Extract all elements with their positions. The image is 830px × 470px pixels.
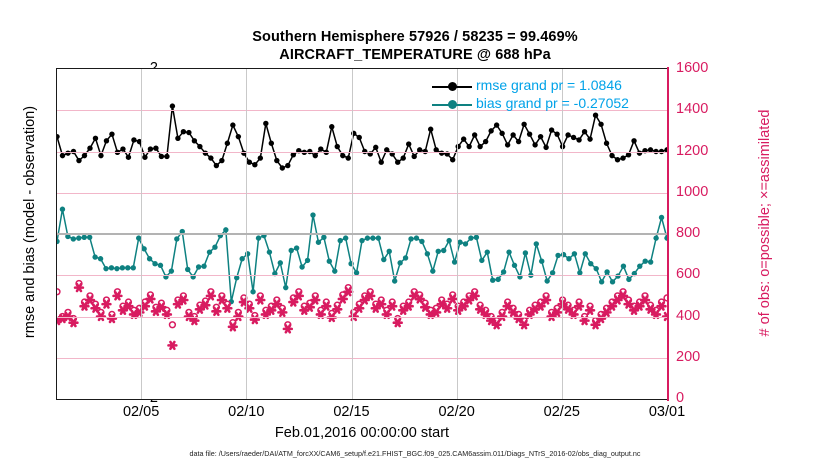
assimilated-obs-marker	[553, 309, 561, 316]
assimilated-obs-marker	[449, 296, 457, 303]
data-point	[340, 153, 345, 158]
x-tick-label: 02/05	[101, 404, 181, 420]
data-point	[392, 278, 397, 283]
data-point	[82, 235, 87, 240]
right-tick-label: 1200	[676, 143, 708, 159]
x-tick-label: 02/25	[522, 404, 602, 420]
data-point	[565, 132, 570, 137]
chart-title-line1: Southern Hemisphere 57926 / 58235 = 99.4…	[0, 29, 830, 45]
data-point	[120, 265, 125, 270]
data-point	[60, 207, 65, 212]
data-point	[387, 249, 392, 254]
assimilated-obs-marker	[256, 297, 264, 304]
data-point	[594, 266, 599, 271]
data-point	[621, 263, 626, 268]
data-point	[566, 256, 571, 261]
zero-reference-line	[57, 233, 667, 235]
data-point	[653, 235, 658, 240]
data-point	[441, 248, 446, 253]
data-point	[412, 154, 417, 159]
data-point	[57, 239, 60, 244]
data-point	[397, 260, 402, 265]
data-point	[572, 251, 577, 256]
data-point	[615, 157, 620, 162]
data-point	[488, 128, 493, 133]
data-point	[230, 122, 235, 127]
assimilated-obs-marker	[158, 304, 166, 311]
assimilated-obs-marker	[394, 319, 402, 326]
assimilated-obs-marker	[75, 284, 83, 291]
assimilated-obs-marker	[388, 303, 396, 310]
assimilated-obs-marker	[339, 296, 347, 303]
data-point	[76, 158, 81, 163]
right-tick-label: 1600	[676, 60, 708, 76]
data-point	[430, 268, 435, 273]
data-point	[294, 245, 299, 250]
assimilated-obs-marker	[333, 306, 341, 313]
data-point	[98, 256, 103, 261]
assimilated-obs-marker	[311, 297, 319, 304]
data-point	[256, 235, 261, 240]
data-point	[153, 146, 158, 151]
data-point	[299, 264, 304, 269]
data-point	[395, 160, 400, 165]
data-point	[401, 155, 406, 160]
data-point	[523, 250, 528, 255]
assimilated-obs-marker	[493, 321, 501, 328]
right-axis-spine	[667, 67, 669, 401]
assimilated-obs-marker	[278, 309, 286, 316]
data-point	[370, 235, 375, 240]
assimilated-obs-marker	[229, 323, 237, 330]
data-point	[501, 269, 506, 274]
data-point	[147, 256, 152, 261]
data-point	[373, 145, 378, 150]
assimilated-obs-marker	[619, 293, 627, 300]
data-point	[544, 278, 549, 283]
x-tick-label: 03/01	[627, 404, 707, 420]
data-point	[610, 279, 615, 284]
assimilated-obs-marker	[190, 317, 198, 324]
assimilated-obs-marker	[641, 297, 649, 304]
right-axis-label: # of obs: o=possible; ×=assimilated	[757, 58, 773, 388]
right-tick-label: 1000	[676, 184, 708, 200]
data-point	[425, 251, 430, 256]
data-point	[604, 141, 609, 146]
data-point	[60, 153, 65, 158]
data-point	[57, 134, 60, 139]
data-point	[285, 163, 290, 168]
legend-item-bias[interactable]: bias grand pr = -0.27052	[432, 96, 664, 114]
data-point	[223, 227, 228, 232]
data-point	[131, 265, 136, 270]
possible-obs-marker	[170, 322, 176, 328]
right-tick-label: 400	[676, 308, 700, 324]
data-point	[457, 240, 462, 245]
data-point	[582, 129, 587, 134]
assimilated-obs-marker	[416, 296, 424, 303]
x-axis-label: Feb.01,2016 00:00:00 start	[56, 425, 668, 441]
data-point	[521, 122, 526, 127]
data-point	[357, 135, 362, 140]
data-point	[93, 136, 98, 141]
assimilated-obs-marker	[377, 301, 385, 308]
data-point	[109, 131, 114, 136]
data-point	[643, 259, 648, 264]
data-point	[510, 132, 515, 137]
assimilated-obs-marker	[114, 293, 122, 300]
data-point	[346, 155, 351, 160]
data-point	[338, 238, 343, 243]
data-point	[196, 264, 201, 269]
data-point	[414, 235, 419, 240]
data-point	[159, 154, 164, 159]
data-point	[532, 142, 537, 147]
hgridline	[57, 317, 667, 318]
data-point	[247, 160, 252, 165]
data-point	[185, 267, 190, 272]
data-point	[109, 265, 114, 270]
data-point	[291, 152, 296, 157]
data-point	[169, 268, 174, 273]
chart-root: Southern Hemisphere 57926 / 58235 = 99.4…	[0, 0, 830, 470]
data-point	[506, 249, 511, 254]
data-point	[329, 124, 334, 129]
data-point	[335, 144, 340, 149]
data-point	[461, 136, 466, 141]
data-point	[103, 266, 108, 271]
data-point	[477, 144, 482, 149]
x-tick-label: 02/20	[417, 404, 497, 420]
data-point	[114, 266, 119, 271]
data-point	[92, 254, 97, 259]
data-point	[588, 261, 593, 266]
data-point	[516, 139, 521, 144]
assimilated-obs-marker	[103, 301, 111, 308]
left-axis-label: rmse and bias (model - observation)	[22, 57, 38, 387]
hgridline	[57, 358, 667, 359]
data-point	[219, 158, 224, 163]
data-point	[283, 285, 288, 290]
data-point	[539, 259, 544, 264]
data-point	[466, 144, 471, 149]
legend-marker-bias	[448, 100, 457, 109]
data-point	[71, 236, 76, 241]
data-point	[428, 127, 433, 132]
data-point	[141, 246, 146, 251]
assimilated-obs-marker	[355, 305, 363, 312]
data-point	[609, 153, 614, 158]
data-point	[186, 130, 191, 135]
data-point	[313, 153, 318, 158]
assimilated-obs-marker	[180, 297, 188, 304]
assimilated-obs-marker	[284, 326, 292, 333]
data-point	[225, 141, 230, 146]
assimilated-obs-marker	[223, 305, 231, 312]
assimilated-obs-marker	[520, 321, 528, 328]
data-point	[327, 259, 332, 264]
data-point	[648, 259, 653, 264]
data-point	[201, 263, 206, 268]
data-point	[379, 160, 384, 165]
assimilated-obs-marker	[86, 297, 94, 304]
data-point	[197, 144, 202, 149]
assimilated-obs-marker	[542, 297, 550, 304]
hgridline	[57, 152, 667, 153]
data-point	[207, 249, 212, 254]
assimilated-obs-marker	[421, 304, 429, 311]
assimilated-obs-marker	[405, 303, 413, 310]
data-point	[576, 137, 581, 142]
data-point	[626, 152, 631, 157]
right-tick-label: 200	[676, 349, 700, 365]
data-point	[131, 137, 136, 142]
data-point	[258, 155, 263, 160]
data-point	[494, 122, 499, 127]
data-point	[359, 238, 364, 243]
x-tick-label: 02/15	[311, 404, 391, 420]
data-point	[274, 158, 279, 163]
data-point	[637, 263, 642, 268]
data-point	[192, 138, 197, 143]
data-point	[76, 235, 81, 240]
data-point	[598, 122, 603, 127]
data-point	[472, 132, 477, 137]
assimilated-obs-marker	[575, 303, 583, 310]
assimilated-obs-marker	[432, 309, 440, 316]
legend-item-rmse[interactable]: rmse grand pr = 1.0846	[432, 78, 664, 96]
data-point	[126, 155, 131, 160]
data-point	[142, 155, 147, 160]
assimilated-obs-marker	[207, 293, 215, 300]
data-point	[239, 256, 244, 261]
data-point	[332, 268, 337, 273]
plot-area	[56, 68, 668, 400]
data-point	[252, 162, 257, 167]
data-point	[175, 136, 180, 141]
data-point	[659, 215, 664, 220]
data-point	[554, 131, 559, 136]
assimilated-obs-marker	[141, 303, 149, 310]
data-point	[505, 142, 510, 147]
data-point	[490, 278, 495, 283]
possible-obs-marker	[57, 289, 60, 295]
data-point	[468, 235, 473, 240]
data-point	[212, 245, 217, 250]
x-tick-label: 02/10	[206, 404, 286, 420]
data-point	[450, 157, 455, 162]
data-point	[512, 263, 517, 268]
data-point	[474, 235, 479, 240]
assimilated-obs-marker	[169, 342, 177, 349]
data-point	[406, 141, 411, 146]
data-point	[408, 236, 413, 241]
data-point	[495, 277, 500, 282]
data-point	[485, 249, 490, 254]
data-point	[419, 239, 424, 244]
assimilated-obs-marker	[201, 302, 209, 309]
data-point	[483, 139, 488, 144]
assimilated-obs-marker	[212, 308, 220, 315]
data-point	[365, 235, 370, 240]
data-point	[499, 131, 504, 136]
data-point	[174, 236, 179, 241]
data-point	[181, 129, 186, 134]
data-point	[571, 135, 576, 140]
data-point	[87, 146, 92, 151]
assimilated-obs-marker	[125, 303, 133, 310]
data-point	[534, 241, 539, 246]
data-point	[98, 153, 103, 158]
data-point	[620, 155, 625, 160]
assimilated-obs-marker	[586, 307, 594, 314]
legend-marker-rmse	[448, 82, 457, 91]
data-point	[236, 134, 241, 139]
data-point	[543, 145, 548, 150]
data-point	[214, 163, 219, 168]
data-point	[555, 253, 560, 258]
assimilated-obs-marker	[218, 297, 226, 304]
data-point	[403, 255, 408, 260]
legend-label-rmse: rmse grand pr = 1.0846	[476, 77, 622, 93]
assimilated-obs-marker	[306, 304, 314, 311]
assimilated-obs-marker	[658, 303, 666, 310]
data-point	[104, 138, 109, 143]
right-tick-label: 800	[676, 225, 700, 241]
data-point	[538, 134, 543, 139]
data-point	[479, 258, 484, 263]
right-tick-label: 600	[676, 266, 700, 282]
hgridline	[57, 275, 667, 276]
data-point	[599, 279, 604, 284]
data-point	[158, 263, 163, 268]
data-point	[289, 248, 294, 253]
data-point	[631, 138, 636, 143]
data-point	[263, 121, 268, 126]
data-point	[152, 261, 157, 266]
assimilated-obs-marker	[443, 305, 451, 312]
assimilated-obs-marker	[471, 293, 479, 300]
data-point	[343, 235, 348, 240]
assimilated-obs-marker	[147, 296, 155, 303]
data-point	[170, 103, 175, 108]
data-point	[278, 260, 283, 265]
assimilated-obs-marker	[92, 305, 100, 312]
data-point	[583, 251, 588, 256]
data-point	[164, 154, 169, 159]
data-point	[125, 265, 130, 270]
data-point	[208, 155, 213, 160]
data-point	[280, 165, 285, 170]
hgridline	[57, 193, 667, 194]
assimilated-obs-marker	[273, 301, 281, 308]
data-point	[310, 212, 315, 217]
data-point	[527, 131, 532, 136]
data-point	[305, 258, 310, 263]
data-point	[250, 289, 255, 294]
right-tick-label: 1400	[676, 101, 708, 117]
data-point	[587, 136, 592, 141]
data-point	[604, 269, 609, 274]
data-point	[87, 235, 92, 240]
legend[interactable]: rmse grand pr = 1.0846 bias grand pr = -…	[432, 78, 664, 114]
data-point	[381, 257, 386, 262]
data-point	[316, 240, 321, 245]
data-point	[549, 127, 554, 132]
assimilated-obs-marker	[366, 293, 374, 300]
data-point	[436, 249, 441, 254]
data-point	[626, 277, 631, 282]
data-point	[446, 238, 451, 243]
assimilated-obs-marker	[322, 303, 330, 310]
assimilated-obs-marker	[328, 314, 336, 321]
assimilated-obs-marker	[581, 317, 589, 324]
data-file-footer: data file: /Users/raeder/DAI/ATM_forcXX/…	[0, 449, 830, 458]
data-point	[463, 241, 468, 246]
data-point	[267, 249, 272, 254]
assimilated-obs-marker	[295, 293, 303, 300]
series-bias	[57, 207, 667, 305]
data-point	[82, 153, 87, 158]
legend-label-bias: bias grand pr = -0.27052	[476, 95, 629, 111]
data-point	[376, 235, 381, 240]
assimilated-obs-marker	[70, 319, 78, 326]
data-point	[321, 235, 326, 240]
data-point	[269, 141, 274, 146]
